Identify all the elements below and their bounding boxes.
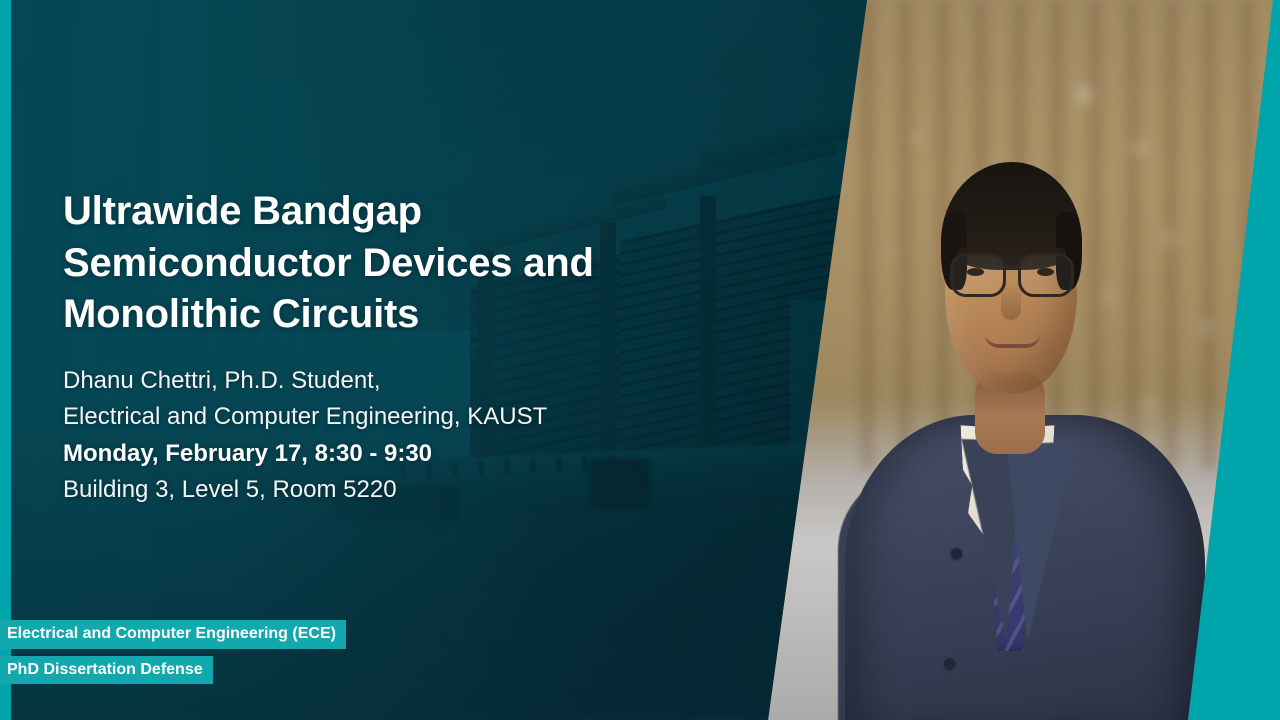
suit-lapel-right [1007,442,1082,642]
eyeglasses-lens-right [1018,253,1074,297]
status-badge-department: Electrical and Computer Engineering (ECE… [0,620,346,649]
slide-text-content: Ultrawide Bandgap Semiconductor Devices … [63,186,763,509]
suit-button-upper [951,548,962,559]
suit-button-lower [944,658,955,669]
badge-group: Electrical and Computer Engineering (ECE… [0,620,346,684]
seminar-announcement-slide: Ultrawide Bandgap Semiconductor Devices … [0,0,1280,720]
left-accent-bar [0,0,11,720]
badge-row-event-type: PhD Dissertation Defense [0,656,346,685]
affiliation-line: Electrical and Computer Engineering, KAU… [63,399,763,435]
location-line: Building 3, Level 5, Room 5220 [63,472,763,508]
speaker-name-line: Dhanu Chettri, Ph.D. Student, [63,363,763,399]
event-details: Dhanu Chettri, Ph.D. Student, Electrical… [63,363,763,509]
badge-row-department: Electrical and Computer Engineering (ECE… [0,620,346,649]
page-title: Ultrawide Bandgap Semiconductor Devices … [63,186,763,341]
eyeglasses-bridge [1004,266,1020,269]
status-badge-event-type: PhD Dissertation Defense [0,656,213,685]
datetime-line: Monday, February 17, 8:30 - 9:30 [63,436,763,472]
eyeglasses-lens-left [950,253,1006,297]
mouth [985,334,1040,348]
